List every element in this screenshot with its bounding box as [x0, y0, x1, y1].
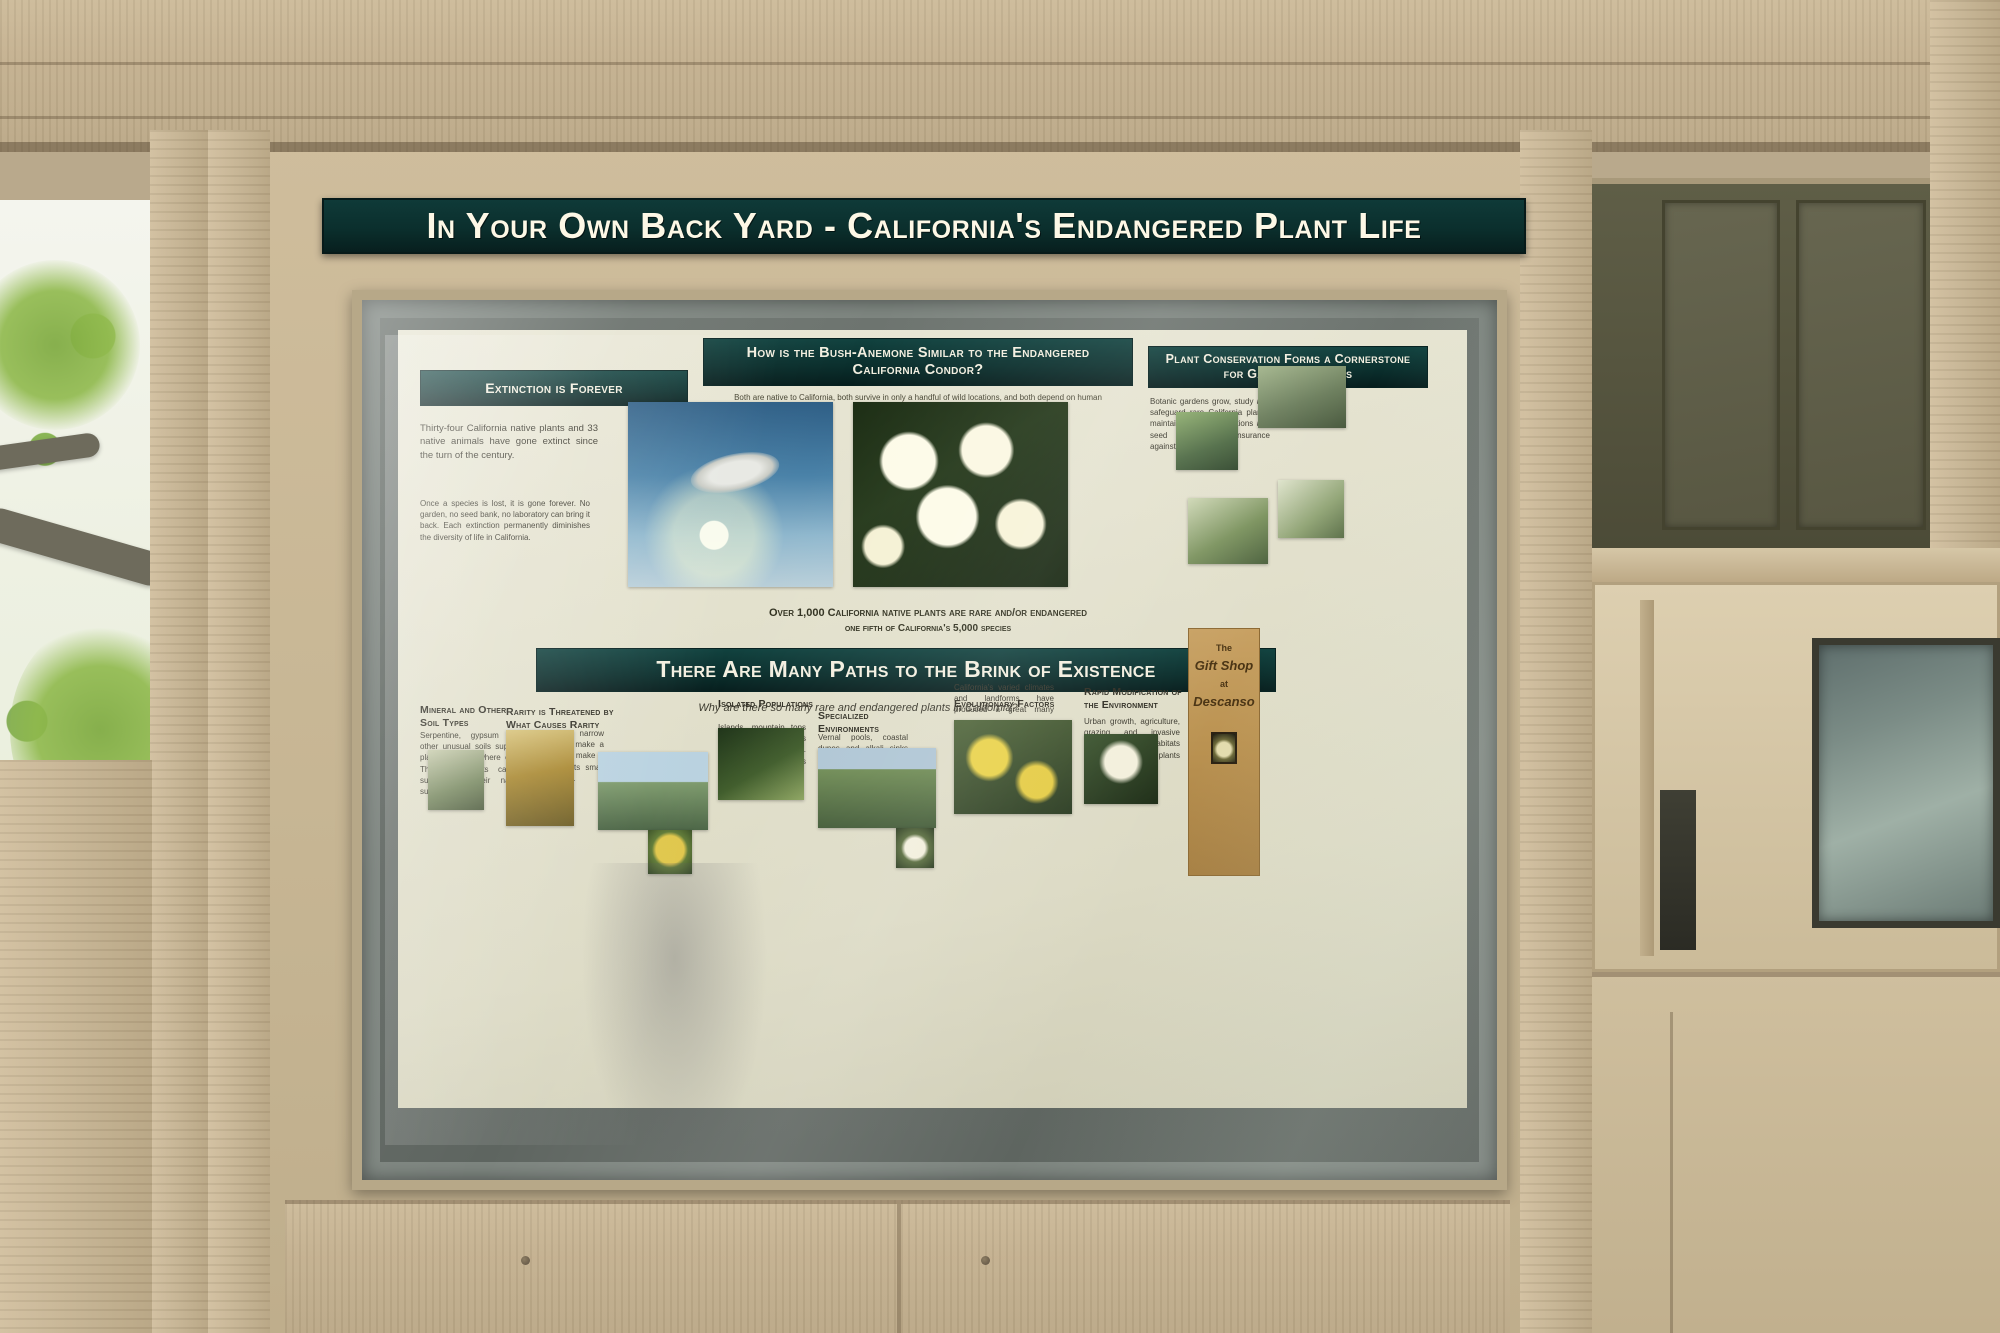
photo-path-8	[954, 720, 1072, 814]
header-beam	[0, 0, 2000, 152]
photo-path-2	[506, 730, 574, 826]
panel-divider	[897, 1204, 901, 1333]
window-sill	[1592, 548, 2000, 582]
exhibit-title-banner: In Your Own Back Yard - California's End…	[322, 198, 1526, 254]
foliage-cluster	[0, 260, 140, 430]
statistic-line-1: Over 1,000 California native plants are …	[648, 606, 1208, 621]
photo-conservation-4	[1278, 480, 1344, 538]
gift-panel-line-1: The	[1216, 643, 1232, 654]
panel-screw	[521, 1256, 530, 1265]
post-left-outer	[150, 130, 208, 1333]
extinction-body-text: Thirty-four California native plants and…	[420, 422, 598, 462]
gift-panel-line-4: Descanso	[1193, 694, 1254, 710]
column-heading-5: Rapid Modification of the Environment	[1084, 686, 1188, 711]
tree-branch	[0, 504, 171, 589]
photo-path-7	[896, 828, 934, 868]
cabinet-divider	[1670, 1012, 1673, 1333]
cabinet-seam	[1592, 972, 2000, 977]
door-panel-left[interactable]	[1662, 200, 1780, 530]
photo-path-9	[1084, 734, 1158, 804]
door-threshold-panel	[0, 760, 152, 1333]
photo-bush-anemone-flowers	[853, 402, 1068, 587]
gift-shop-panel: The Gift Shop at Descanso	[1188, 628, 1260, 876]
post-right	[1520, 130, 1592, 1333]
interpretive-poster: Extinction is Forever Thirty-four Califo…	[398, 330, 1467, 1108]
beam-seam	[0, 62, 2000, 65]
window-shadow-strip	[1660, 790, 1696, 950]
wall-lower-cabinet[interactable]	[1592, 972, 2000, 1333]
exhibit-title-text: In Your Own Back Yard - California's End…	[426, 205, 1421, 247]
extinction-notes-text: Once a species is lost, it is gone forev…	[420, 498, 590, 543]
panel-screw	[981, 1256, 990, 1265]
section-heading-condor: How is the Bush-Anemone Similar to the E…	[703, 338, 1133, 386]
gift-panel-line-2: Gift Shop	[1195, 658, 1254, 674]
post-left-inner	[208, 130, 270, 1333]
photo-path-1	[428, 750, 484, 810]
column-body-4: California's varied climates and landfor…	[954, 682, 1054, 716]
photo-conservation-3	[1188, 498, 1268, 564]
photo-conservation-2	[1258, 366, 1346, 428]
kiosk-lower-panel	[285, 1200, 1510, 1333]
tree-branch	[0, 432, 101, 472]
photo-path-6	[818, 748, 936, 828]
door-panel-right[interactable]	[1796, 200, 1926, 530]
window-glass-pane	[1812, 638, 2000, 928]
statistic-line-2: one fifth of California's 5,000 species	[648, 622, 1208, 636]
kiosk-scene: In Your Own Back Yard - California's End…	[0, 0, 2000, 1333]
column-heading-2: Isolated Populations	[718, 698, 814, 711]
gift-panel-thumbnail	[1211, 732, 1237, 764]
condor-silhouette	[687, 445, 783, 500]
photo-conservation-1	[1176, 412, 1238, 470]
gift-panel-line-3: at	[1220, 679, 1228, 690]
photo-path-3	[598, 752, 708, 830]
beam-seam	[0, 116, 2000, 119]
photo-california-condor	[628, 402, 833, 587]
photo-path-5	[648, 830, 692, 874]
window-mullion	[1640, 600, 1654, 956]
photo-path-4	[718, 728, 804, 800]
section-heading-extinction: Extinction is Forever	[420, 370, 688, 406]
glass-display-case[interactable]: Extinction is Forever Thirty-four Califo…	[352, 290, 1507, 1190]
